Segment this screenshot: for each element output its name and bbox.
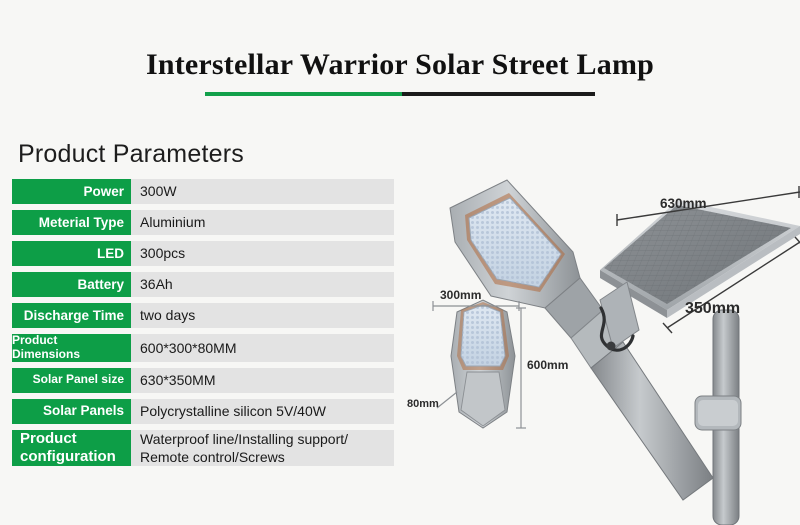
title-underline-green xyxy=(205,92,402,96)
param-value-product-dimensions: 600*300*80MM xyxy=(131,334,394,362)
table-row: Battery 36Ah xyxy=(12,272,394,297)
title-underline-dark xyxy=(402,92,595,96)
section-heading: Product Parameters xyxy=(18,140,244,169)
param-label-battery: Battery xyxy=(12,272,131,297)
table-row: Product Dimensions 600*300*80MM xyxy=(12,334,394,362)
product-spec-page: Interstellar Warrior Solar Street Lamp P… xyxy=(0,0,800,525)
dim-label-600mm: 600mm xyxy=(527,358,568,372)
lamp-head-front-view-graphic xyxy=(451,300,515,428)
param-label-solar-panels: Solar Panels xyxy=(12,399,131,424)
param-label-power: Power xyxy=(12,179,131,204)
param-value-line1: Waterproof line/Installing support/ xyxy=(140,430,348,448)
param-label-line2: configuration xyxy=(20,448,116,466)
dim-label-630mm: 630mm xyxy=(660,196,707,211)
param-value-text: 36Ah xyxy=(140,275,173,293)
table-row: LED 300pcs xyxy=(12,241,394,266)
param-value-text: two days xyxy=(140,306,195,324)
param-label-line1: Product xyxy=(20,430,77,448)
param-label-product-dimensions: Product Dimensions xyxy=(12,334,131,362)
table-row: Solar Panel size 630*350MM xyxy=(12,368,394,393)
param-value-meterial-type: Aluminium xyxy=(131,210,394,235)
dim-line-600 xyxy=(516,308,526,428)
table-row: Discharge Time two days xyxy=(12,303,394,328)
param-value-text: 630*350MM xyxy=(140,371,216,389)
product-illustration: 630mm 350mm 300mm 600mm 80mm xyxy=(395,160,800,525)
table-row: Meterial Type Aluminium xyxy=(12,210,394,235)
param-label-product-configuration: Product configuration xyxy=(12,430,131,466)
product-illustration-svg xyxy=(395,160,800,525)
table-row: Solar Panels Polycrystalline silicon 5V/… xyxy=(12,399,394,424)
param-value-text: 300W xyxy=(140,182,177,200)
param-label-solar-panel-size: Solar Panel size xyxy=(12,368,131,393)
param-label-discharge-time: Discharge Time xyxy=(12,303,131,328)
param-value-solar-panel-size: 630*350MM xyxy=(131,368,394,393)
param-value-text: Polycrystalline silicon 5V/40W xyxy=(140,402,326,420)
param-value-line2: Remote control/Screws xyxy=(140,448,285,466)
param-value-text: 300pcs xyxy=(140,244,185,262)
param-value-text: Aluminium xyxy=(140,213,205,231)
table-row: Product configuration Waterproof line/In… xyxy=(12,430,394,466)
table-row: Power 300W xyxy=(12,179,394,204)
param-value-discharge-time: two days xyxy=(131,303,394,328)
param-label-meterial-type: Meterial Type xyxy=(12,210,131,235)
param-value-solar-panels: Polycrystalline silicon 5V/40W xyxy=(131,399,394,424)
title-underline xyxy=(205,92,595,96)
parameters-table: Power 300W Meterial Type Aluminium LED 3… xyxy=(12,179,394,472)
dim-label-300mm: 300mm xyxy=(440,288,481,302)
param-value-power: 300W xyxy=(131,179,394,204)
param-value-text: 600*300*80MM xyxy=(140,339,237,357)
param-label-led: LED xyxy=(12,241,131,266)
param-value-product-configuration: Waterproof line/Installing support/ Remo… xyxy=(131,430,394,466)
dim-leader-80 xyxy=(437,392,457,408)
page-title: Interstellar Warrior Solar Street Lamp xyxy=(0,48,800,82)
param-value-led: 300pcs xyxy=(131,241,394,266)
dim-label-350mm: 350mm xyxy=(685,300,740,318)
dim-label-80mm: 80mm xyxy=(407,398,439,410)
param-value-battery: 36Ah xyxy=(131,272,394,297)
